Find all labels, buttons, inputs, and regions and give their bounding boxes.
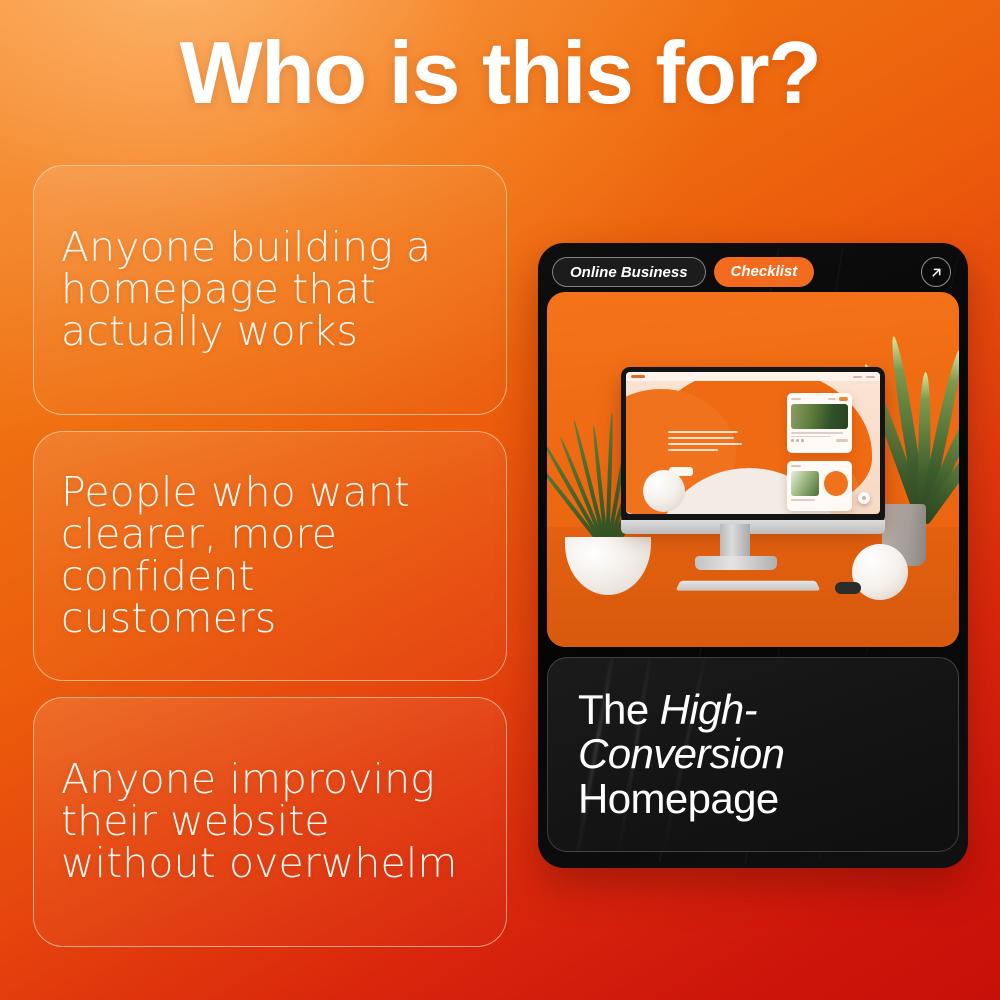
product-title-prefix: The (578, 686, 660, 733)
mockup-hero-image (547, 292, 959, 647)
mockup-card-photo (791, 404, 848, 429)
mockup-content-card (787, 461, 852, 511)
product-title-italic-2: Conversion (578, 730, 784, 777)
audience-card[interactable]: Anyone building a homepage that actually… (33, 165, 507, 415)
mockup-tag-row: Online Business Checklist (547, 252, 959, 292)
audience-card-text: People who want clearer, more confident … (34, 472, 506, 639)
audience-card[interactable]: Anyone improving their website without o… (33, 697, 507, 947)
mouse (835, 582, 861, 594)
product-title-italic-1: High- (660, 686, 757, 733)
monitor-base (695, 556, 777, 570)
tag-online-business[interactable]: Online Business (552, 257, 706, 287)
audience-card-list: Anyone building a homepage that actually… (33, 165, 507, 947)
audience-card-text: Anyone improving their website without o… (34, 759, 506, 884)
mockup-card-shape (824, 471, 848, 496)
mockup-title-panel: The High- Conversion Homepage (547, 657, 959, 852)
tag-checklist[interactable]: Checklist (714, 257, 815, 287)
white-sphere-small (643, 470, 685, 512)
white-sphere-large (852, 544, 908, 600)
floating-sphere (858, 492, 870, 504)
monitor-chin (621, 520, 885, 534)
browser-bar (626, 372, 880, 381)
audience-card-text: Anyone building a homepage that actually… (34, 227, 506, 352)
audience-card[interactable]: People who want clearer, more confident … (33, 431, 507, 681)
product-title-suffix: Homepage (578, 775, 779, 822)
hero-text-lines (668, 431, 742, 455)
product-mockup-device[interactable]: Online Business Checklist (538, 243, 968, 868)
mockup-content-card (787, 393, 852, 453)
product-title: The High- Conversion Homepage (548, 688, 800, 822)
page-title: Who is this for? (0, 28, 1000, 118)
mockup-card-photo (791, 471, 819, 496)
poster-canvas: Who is this for? Anyone building a homep… (0, 0, 1000, 1000)
site-logo (631, 375, 645, 378)
keyboard (676, 581, 821, 591)
arrow-up-right-icon[interactable] (921, 257, 951, 287)
site-nav (853, 376, 875, 378)
